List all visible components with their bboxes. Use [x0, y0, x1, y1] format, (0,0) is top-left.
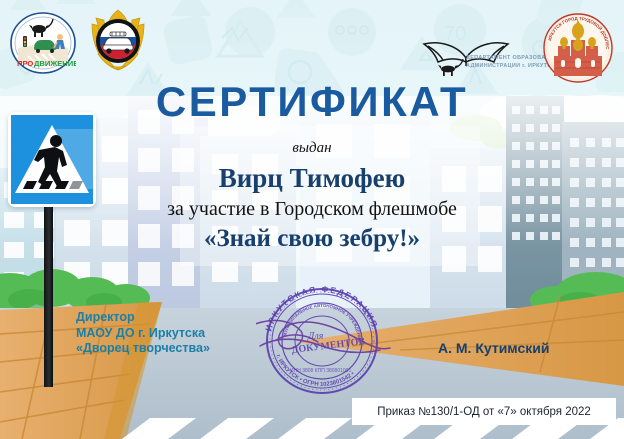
signer-org-line-2: «Дворец творчества»: [76, 341, 210, 357]
svg-text:ДВИЖЕНИЕ: ДВИЖЕНИЕ: [34, 59, 76, 68]
page-title: СЕРТИФИКАТ: [0, 78, 624, 126]
signer-org-line-1: МАОУ ДО г. Иркутска: [76, 326, 210, 342]
official-stamp: ИРКУТСКАЯ ФЕДЕРАЦИЯ г. ИРКУТСК • ОГРН 10…: [256, 282, 392, 400]
prodvizhenie-logo: ПРО ДВИЖЕНИЕ: [10, 12, 76, 74]
signer-name: А. М. Кутимский: [438, 340, 549, 356]
department-of-education-logo: [418, 22, 540, 80]
svg-text:ПРО: ПРО: [17, 59, 33, 68]
event-title: «Знай свою зебру!»: [0, 225, 624, 253]
signature-block: Директор МАОУ ДО г. Иркутска «Дворец тво…: [76, 310, 210, 357]
recipient-name: Вирц Тимофею: [0, 163, 624, 194]
order-number-text: Приказ №130/1-ОД от «7» октября 2022: [377, 406, 591, 418]
issued-label: выдан: [0, 140, 624, 157]
gibdd-emblem: [86, 8, 150, 74]
svg-text:ИНН 3808 КПП 380801001: ИНН 3808 КПП 380801001: [290, 368, 351, 374]
event-participation-line: за участие в Городском флешмобе: [0, 198, 624, 221]
certificate-page: 70: [0, 0, 624, 439]
order-number-box: Приказ №130/1-ОД от «7» октября 2022: [352, 398, 616, 425]
irkutsk-church-emblem: ИРКУТСК ГОРОД ТРУДОВОЙ ДОБЛЕСТИ: [542, 12, 614, 84]
signer-role: Директор: [76, 310, 210, 326]
